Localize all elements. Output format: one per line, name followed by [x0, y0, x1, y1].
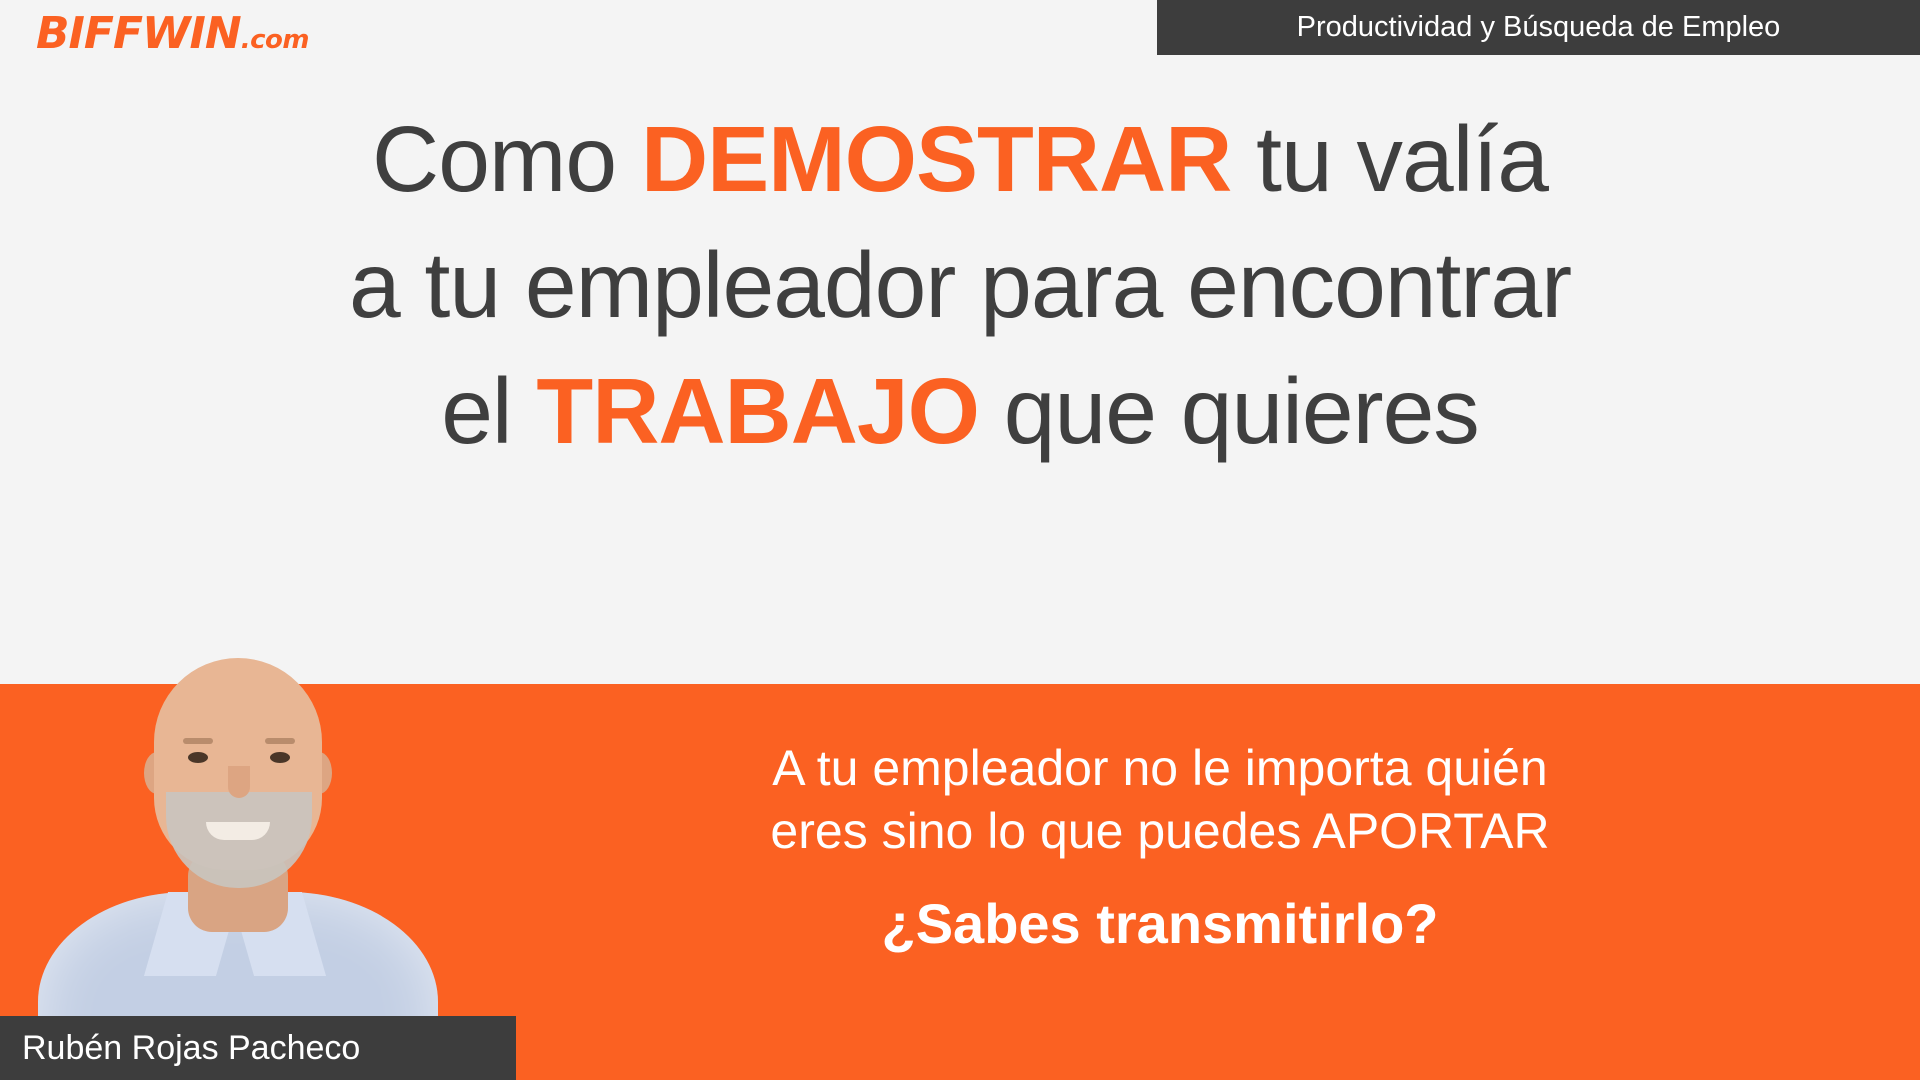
brand-logo: BIFFWIN.com: [36, 6, 309, 68]
portrait-mouth: [206, 822, 270, 840]
headline-line-3-prefix: el: [441, 359, 536, 463]
headline-line-3-suffix: que quieres: [979, 359, 1479, 463]
brand-logo-name: BIFFWIN: [36, 8, 241, 59]
headline-line-2: a tu empleador para encontrar: [0, 222, 1920, 348]
presenter-name-badge: Rubén Rojas Pacheco: [0, 1016, 516, 1080]
brand-logo-suffix: .com: [241, 25, 309, 55]
banner-text-block: A tu empleador no le importa quién eres …: [430, 737, 1890, 957]
banner-subtitle-line-2: eres sino lo que puedes APORTAR: [430, 800, 1890, 863]
portrait-eyebrow-left: [183, 738, 213, 744]
presenter-photo: [38, 640, 438, 1080]
portrait-eyebrow-right: [265, 738, 295, 744]
portrait-eye-left: [188, 752, 208, 763]
headline-line-1-prefix: Como: [372, 107, 641, 211]
headline-accent-demostrar: DEMOSTRAR: [641, 107, 1231, 211]
banner-question: ¿Sabes transmitirlo?: [430, 891, 1890, 957]
portrait-eye-right: [270, 752, 290, 763]
portrait-nose: [228, 766, 250, 798]
headline-line-1-suffix: tu valía: [1231, 107, 1548, 211]
banner-subtitle-line-1: A tu empleador no le importa quién: [430, 737, 1890, 800]
headline-line-3: el TRABAJO que quieres: [0, 348, 1920, 474]
headline-accent-trabajo: TRABAJO: [536, 359, 979, 463]
category-badge: Productividad y Búsqueda de Empleo: [1157, 0, 1920, 55]
thumbnail-canvas: BIFFWIN.com Productividad y Búsqueda de …: [0, 0, 1920, 1080]
headline-line-1: Como DEMOSTRAR tu valía: [0, 96, 1920, 222]
headline: Como DEMOSTRAR tu valía a tu empleador p…: [0, 96, 1920, 474]
